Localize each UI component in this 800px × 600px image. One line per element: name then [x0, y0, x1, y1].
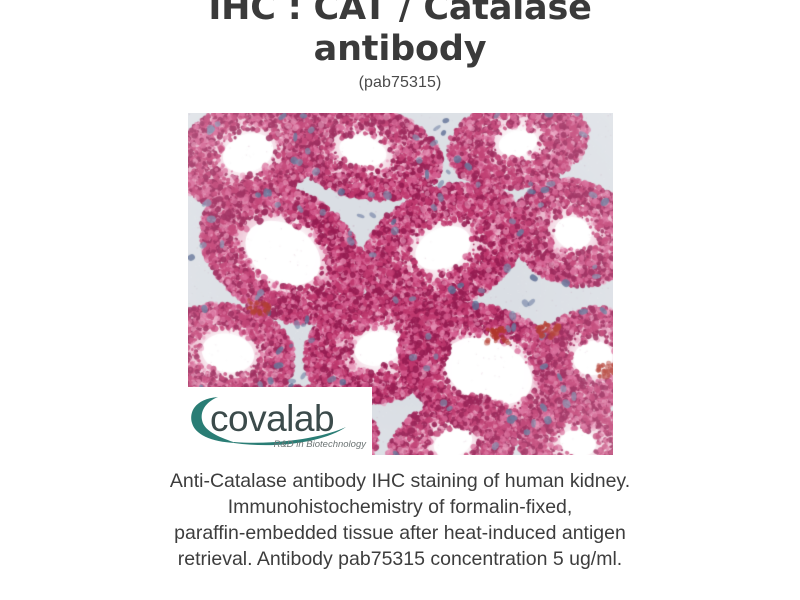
covalab-logo: covalab R&D in Biotechnology: [188, 387, 372, 455]
caption-line-4: retrieval. Antibody pab75315 concentrati…: [80, 546, 720, 572]
catalog-number: (pab75315): [0, 74, 800, 92]
title-block: IHC : CAT / Catalase antibody (pab75315): [0, 0, 800, 92]
caption-line-3: paraffin-embedded tissue after heat-indu…: [80, 520, 720, 546]
figure-caption: Anti-Catalase antibody IHC staining of h…: [80, 468, 720, 572]
caption-line-1: Anti-Catalase antibody IHC staining of h…: [80, 468, 720, 494]
ihc-micrograph: covalab R&D in Biotechnology: [188, 113, 613, 455]
caption-line-2: Immunohistochemistry of formalin-fixed,: [80, 494, 720, 520]
page-title: IHC : CAT / Catalase antibody: [0, 0, 800, 71]
covalab-logo-svg: covalab R&D in Biotechnology: [188, 387, 372, 455]
logo-tagline: R&D in Biotechnology: [274, 439, 368, 450]
logo-wordmark: covalab: [210, 398, 334, 439]
